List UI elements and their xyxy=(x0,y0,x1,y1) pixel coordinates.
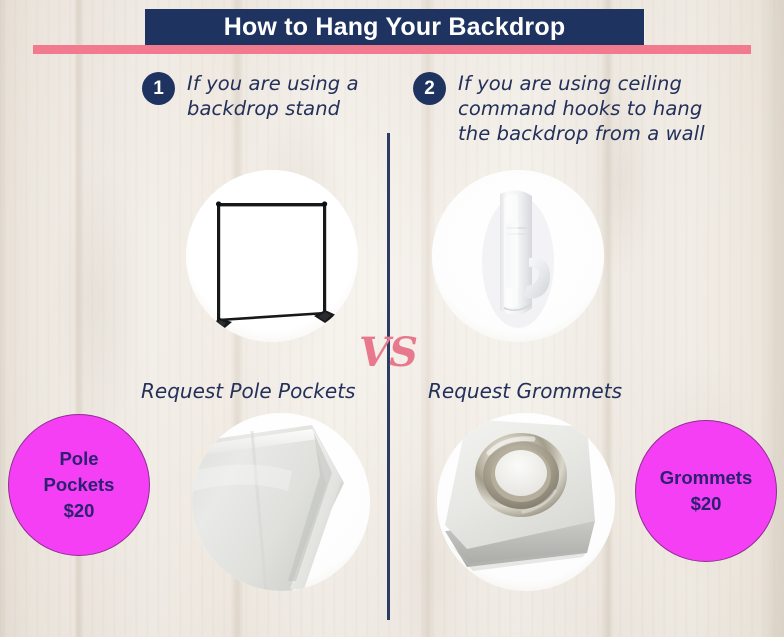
title-underline-rule xyxy=(33,45,751,54)
pole-pockets-badge-price: $20 xyxy=(64,498,95,524)
infographic-canvas: How to Hang Your Backdrop 1 If you are u… xyxy=(0,0,784,637)
title-banner: How to Hang Your Backdrop xyxy=(145,9,644,45)
step-1-number-badge: 1 xyxy=(142,72,175,105)
metal-grommet-icon xyxy=(437,413,615,591)
backdrop-stand-photo xyxy=(186,170,358,342)
step-2-line-1: If you are using ceiling xyxy=(458,71,705,96)
backdrop-stand-icon xyxy=(186,170,358,342)
left-option-caption: Request Pole Pockets xyxy=(141,379,355,403)
step-2-line-2: command hooks to hang xyxy=(458,96,705,121)
step-2-text: If you are using ceiling command hooks t… xyxy=(458,71,705,146)
page-title: How to Hang Your Backdrop xyxy=(224,13,566,42)
pole-pockets-price-badge[interactable]: Pole Pockets $20 xyxy=(8,414,150,556)
vertical-divider xyxy=(387,133,390,620)
step-2-line-3: the backdrop from a wall xyxy=(458,121,705,146)
command-hook-photo xyxy=(432,170,604,342)
pole-pocket-fabric-icon xyxy=(192,413,370,591)
step-1-text: If you are using a backdrop stand xyxy=(187,71,359,121)
grommets-badge-line-1: Grommets xyxy=(660,465,753,491)
step-1-heading: 1 If you are using a backdrop stand xyxy=(142,71,390,121)
step-1-line-1: If you are using a xyxy=(187,71,359,96)
versus-label: VS xyxy=(352,331,424,375)
grommets-badge-price: $20 xyxy=(691,491,722,517)
step-2-number-badge: 2 xyxy=(413,72,446,105)
right-option-caption: Request Grommets xyxy=(428,379,622,403)
pole-pocket-photo xyxy=(192,413,370,591)
command-hook-icon xyxy=(432,170,604,342)
step-1-line-2: backdrop stand xyxy=(187,96,359,121)
grommets-price-badge[interactable]: Grommets $20 xyxy=(635,420,777,562)
pole-pockets-badge-line-1: Pole xyxy=(59,446,98,472)
pole-pockets-badge-line-2: Pockets xyxy=(44,472,115,498)
grommet-photo xyxy=(437,413,615,591)
step-2-heading: 2 If you are using ceiling command hooks… xyxy=(413,71,713,146)
